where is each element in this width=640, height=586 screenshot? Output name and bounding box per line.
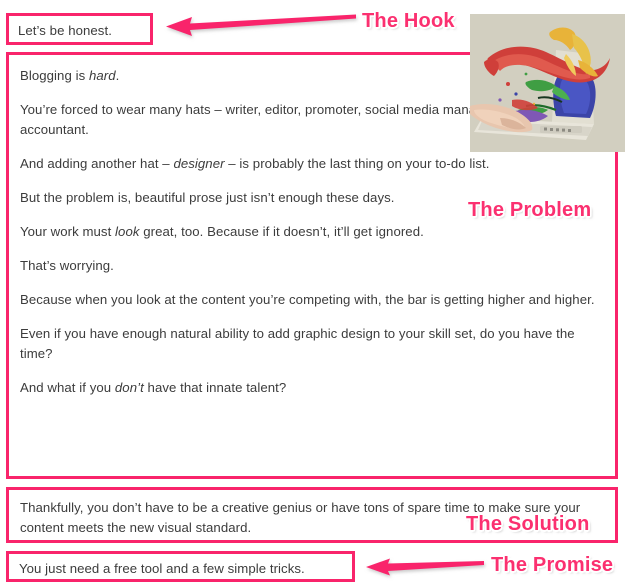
paragraph-text: Because when you look at the content you… (20, 292, 595, 307)
emphasis-text: hard (89, 68, 116, 83)
problem-paragraph: That’s worrying. (20, 256, 603, 276)
hook-callout-label: The Hook (362, 10, 455, 32)
promise-text: You just need a free tool and a few simp… (19, 560, 352, 578)
laptop-paint-splash-image (470, 14, 625, 152)
problem-paragraph: Even if you have enough natural ability … (20, 324, 603, 364)
laptop-paint-splash-illustration (470, 14, 625, 152)
paragraph-text: have that innate talent? (144, 380, 286, 395)
paragraph-text: Blogging is (20, 68, 89, 83)
problem-paragraph: And what if you don’t have that innate t… (20, 378, 603, 398)
paragraph-text: . (116, 68, 120, 83)
paragraph-text: But the problem is, beautiful prose just… (20, 190, 395, 205)
annotated-article-screenshot: Let’s be honest. The Hook Blogging is ha… (0, 0, 640, 586)
paragraph-text: And what if you (20, 380, 115, 395)
paragraph-text: – is probably the last thing on your to-… (225, 156, 490, 171)
hook-text-box: Let’s be honest. (6, 13, 153, 45)
paragraph-text: That’s worrying. (20, 258, 114, 273)
paragraph-text: And adding another hat – (20, 156, 173, 171)
paragraph-text: great, too. Because if it doesn’t, it’ll… (140, 224, 424, 239)
emphasis-text: designer (173, 156, 224, 171)
paragraph-text: Your work must (20, 224, 115, 239)
emphasis-text: don’t (115, 380, 144, 395)
problem-paragraph: Because when you look at the content you… (20, 290, 603, 310)
promise-callout-label: The Promise (491, 554, 613, 576)
hook-text: Let’s be honest. (18, 22, 150, 40)
paragraph-text: Even if you have enough natural ability … (20, 326, 575, 361)
solution-callout-label: The Solution (466, 513, 590, 535)
paragraph-text: You’re forced to wear many hats – writer… (20, 102, 531, 137)
promise-text-box: You just need a free tool and a few simp… (6, 551, 355, 582)
problem-callout-label: The Problem (468, 199, 591, 221)
problem-paragraph: And adding another hat – designer – is p… (20, 154, 603, 174)
emphasis-text: look (115, 224, 139, 239)
promise-arrow-icon (366, 557, 484, 577)
hook-arrow-icon (166, 14, 356, 38)
problem-paragraph: Your work must look great, too. Because … (20, 222, 603, 242)
